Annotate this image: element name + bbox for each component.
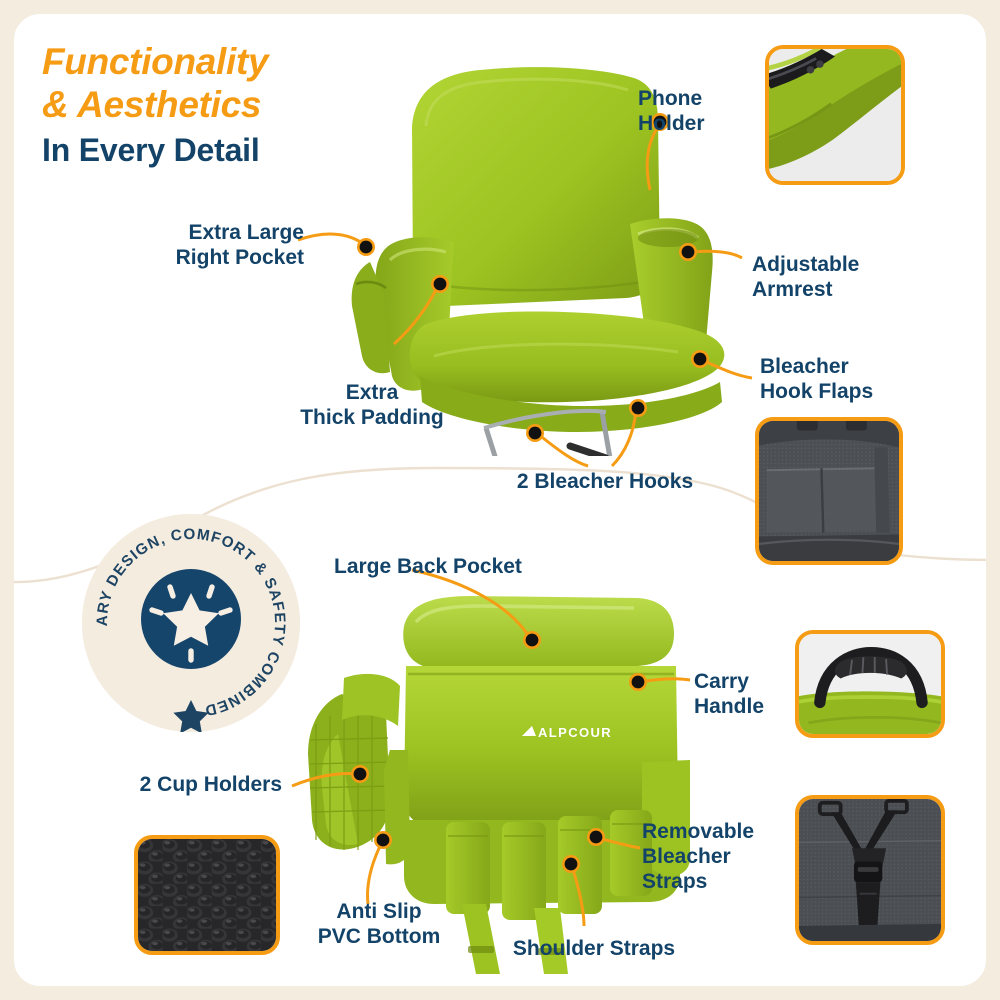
phone-holder-inset	[765, 45, 905, 185]
headline-line-2: & Aesthetics	[42, 83, 268, 126]
label-extra-thick-padding: Extra Thick Padding	[262, 380, 482, 430]
label-large-back-pocket: Large Back Pocket	[334, 554, 594, 579]
infographic-page: Functionality & Aesthetics In Every Deta…	[0, 0, 1000, 1000]
label-anti-slip-pvc-bottom: Anti Slip PVC Bottom	[284, 899, 474, 949]
anti-slip-inset	[134, 835, 280, 955]
bleacher-hook-flaps-inset	[755, 417, 903, 565]
carry-handle-inset	[795, 630, 945, 738]
label-shoulder-straps: Shoulder Straps	[484, 936, 704, 961]
svg-text:ALPCOUR: ALPCOUR	[538, 725, 612, 740]
headline-line-1: Functionality	[42, 40, 268, 83]
page-title: Functionality & Aesthetics In Every Deta…	[42, 40, 268, 172]
label-two-bleacher-hooks: 2 Bleacher Hooks	[490, 469, 720, 494]
quality-badge: REVOLUTIONARY DESIGN, COMFORT & SAFETY C…	[82, 514, 300, 732]
shoulder-straps-inset	[795, 795, 945, 945]
label-two-cup-holders: 2 Cup Holders	[82, 772, 282, 797]
content-panel: Functionality & Aesthetics In Every Deta…	[14, 14, 986, 986]
label-bleacher-hook-flaps: Bleacher Hook Flaps	[760, 354, 950, 404]
label-extra-large-right-pocket: Extra Large Right Pocket	[104, 220, 304, 270]
label-adjustable-armrest: Adjustable Armrest	[752, 252, 952, 302]
headline-line-3: In Every Detail	[42, 128, 268, 172]
